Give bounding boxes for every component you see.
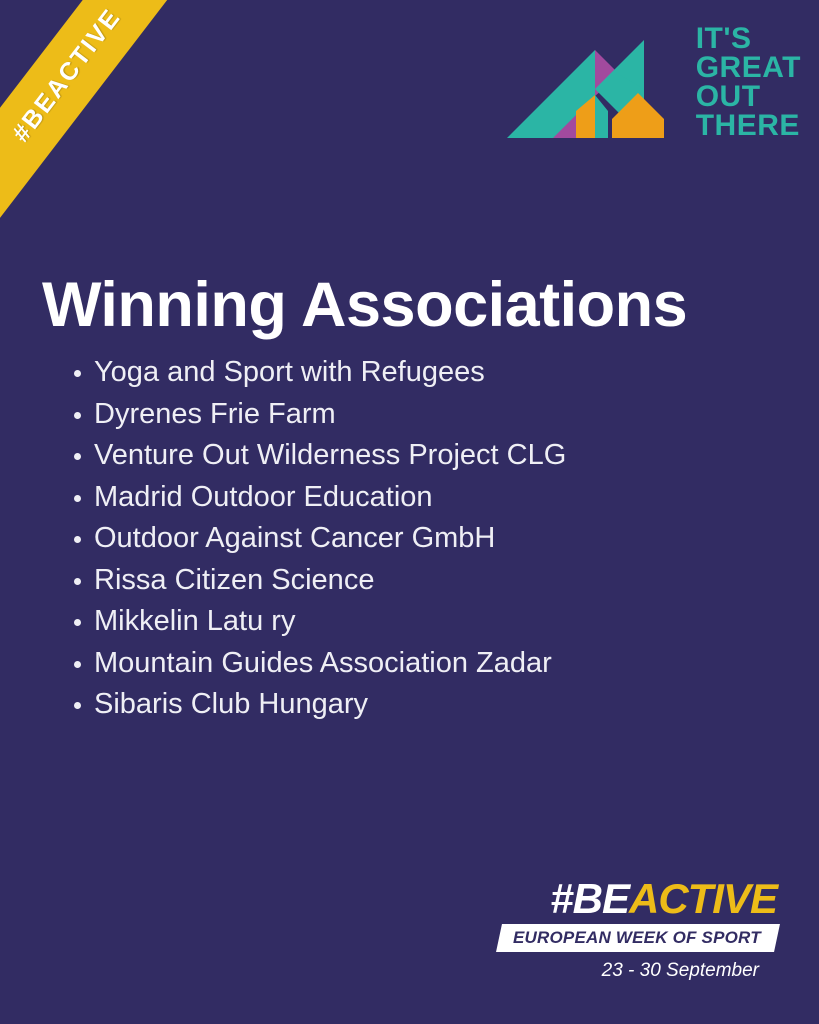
- list-item: Outdoor Against Cancer GmbH: [42, 518, 777, 560]
- its-great-out-there-logo: IT'S GREAT OUT THERE: [504, 24, 801, 141]
- logo-line-1: IT'S: [696, 24, 801, 53]
- logo-line-4: THERE: [696, 111, 801, 140]
- beactive-hash-text: #BE: [550, 875, 629, 922]
- poster-canvas: #BEACTIVE IT'S GREAT OUT THERE: [0, 0, 819, 1024]
- beactive-wordmark: #BEACTIVE: [550, 878, 777, 920]
- beactive-logo: #BEACTIVE EUROPEAN WEEK OF SPORT 23 - 30…: [529, 878, 777, 982]
- list-item: Dyrenes Frie Farm: [42, 394, 777, 436]
- list-item: Mountain Guides Association Zadar: [42, 643, 777, 685]
- logo-line-3: OUT: [696, 82, 801, 111]
- list-item: Venture Out Wilderness Project CLG: [42, 435, 777, 477]
- list-item: Sibaris Club Hungary: [42, 684, 777, 726]
- european-week-of-sport-label: EUROPEAN WEEK OF SPORT: [513, 928, 761, 948]
- ribbon-label: #BEACTIVE: [7, 3, 127, 148]
- main-content: Winning Associations Yoga and Sport with…: [42, 272, 777, 726]
- beactive-active-text: ACTIVE: [629, 875, 777, 922]
- event-date: 23 - 30 September: [602, 960, 777, 982]
- list-item: Madrid Outdoor Education: [42, 477, 777, 519]
- european-week-of-sport-bar: EUROPEAN WEEK OF SPORT: [496, 924, 780, 952]
- winning-associations-list: Yoga and Sport with Refugees Dyrenes Fri…: [42, 352, 777, 726]
- mountain-triangles-icon: [504, 33, 682, 141]
- corner-ribbon: #BEACTIVE: [0, 0, 230, 230]
- list-item: Rissa Citizen Science: [42, 560, 777, 602]
- logo-line-2: GREAT: [696, 53, 801, 82]
- page-title: Winning Associations: [42, 272, 777, 338]
- its-great-out-there-wordmark: IT'S GREAT OUT THERE: [696, 24, 801, 141]
- list-item: Mikkelin Latu ry: [42, 601, 777, 643]
- ribbon-band: #BEACTIVE: [0, 0, 194, 227]
- list-item: Yoga and Sport with Refugees: [42, 352, 777, 394]
